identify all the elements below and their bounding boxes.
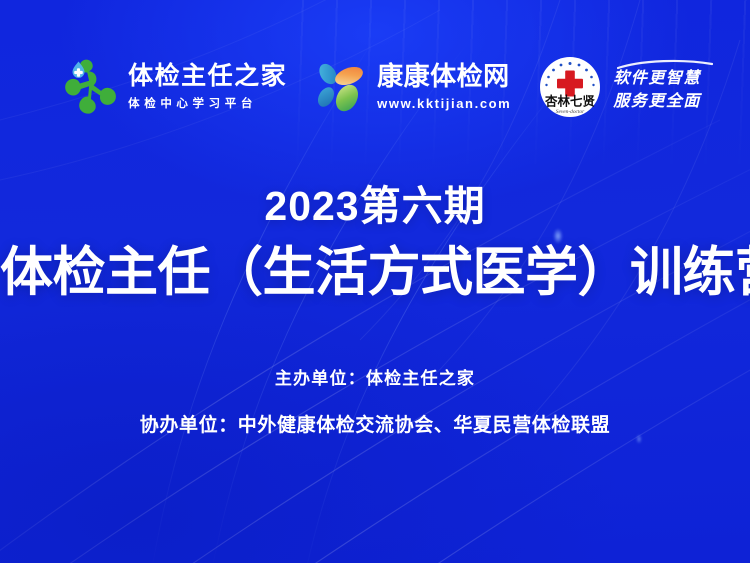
logo2-name: 康康体检网 <box>377 63 511 90</box>
svg-text:Seven-doctor: Seven-doctor <box>556 109 585 115</box>
four-petal-flower-icon <box>315 59 367 115</box>
logo1-wordmark: 体检主任之家 体检中心学习平台 <box>128 63 287 111</box>
svg-text:杏林七贤: 杏林七贤 <box>544 94 596 109</box>
logo-strip: 体检主任之家 体检中心学习平台 <box>0 46 750 128</box>
logo1-name: 体检主任之家 <box>128 63 287 90</box>
logo3-slogan: 软件更智慧 服务更全面 <box>613 61 701 113</box>
title-zone: 2023第六期 体检主任（生活方式医学）训练营 <box>0 186 750 301</box>
logo3-slogan-line-2: 服务更全面 <box>613 90 701 113</box>
logo-kangkang-tijian-wang: 康康体检网 www.kktijian.com <box>315 59 511 115</box>
logo2-wordmark: 康康体检网 www.kktijian.com <box>377 63 511 110</box>
poster-canvas: 体检主任之家 体检中心学习平台 <box>0 0 750 563</box>
host-organizer: 主办单位：体检主任之家 <box>0 364 750 389</box>
title-kicker: 2023第六期 <box>0 186 750 227</box>
co-organizer: 协办单位：中外健康体检交流协会、华夏民营体检联盟 <box>0 410 750 437</box>
logo-xinglin-qixian: 杏林七贤 Seven-doctor 软件更智慧 服务更全面 <box>539 56 701 118</box>
logo1-tagline: 体检中心学习平台 <box>128 95 287 111</box>
clover-water-drop-cross-icon <box>61 57 117 117</box>
logo2-website: www.kktijian.com <box>377 96 511 111</box>
logo-tijian-zhuren-zhijia: 体检主任之家 体检中心学习平台 <box>61 57 287 117</box>
organizer-block: 主办单位：体检主任之家 协办单位：中外健康体检交流协会、华夏民营体检联盟 <box>0 364 750 437</box>
red-cross-circle-badge-icon: 杏林七贤 Seven-doctor <box>539 56 601 118</box>
page-title: 体检主任（生活方式医学）训练营 <box>0 245 750 301</box>
swoosh-icon <box>617 58 713 70</box>
